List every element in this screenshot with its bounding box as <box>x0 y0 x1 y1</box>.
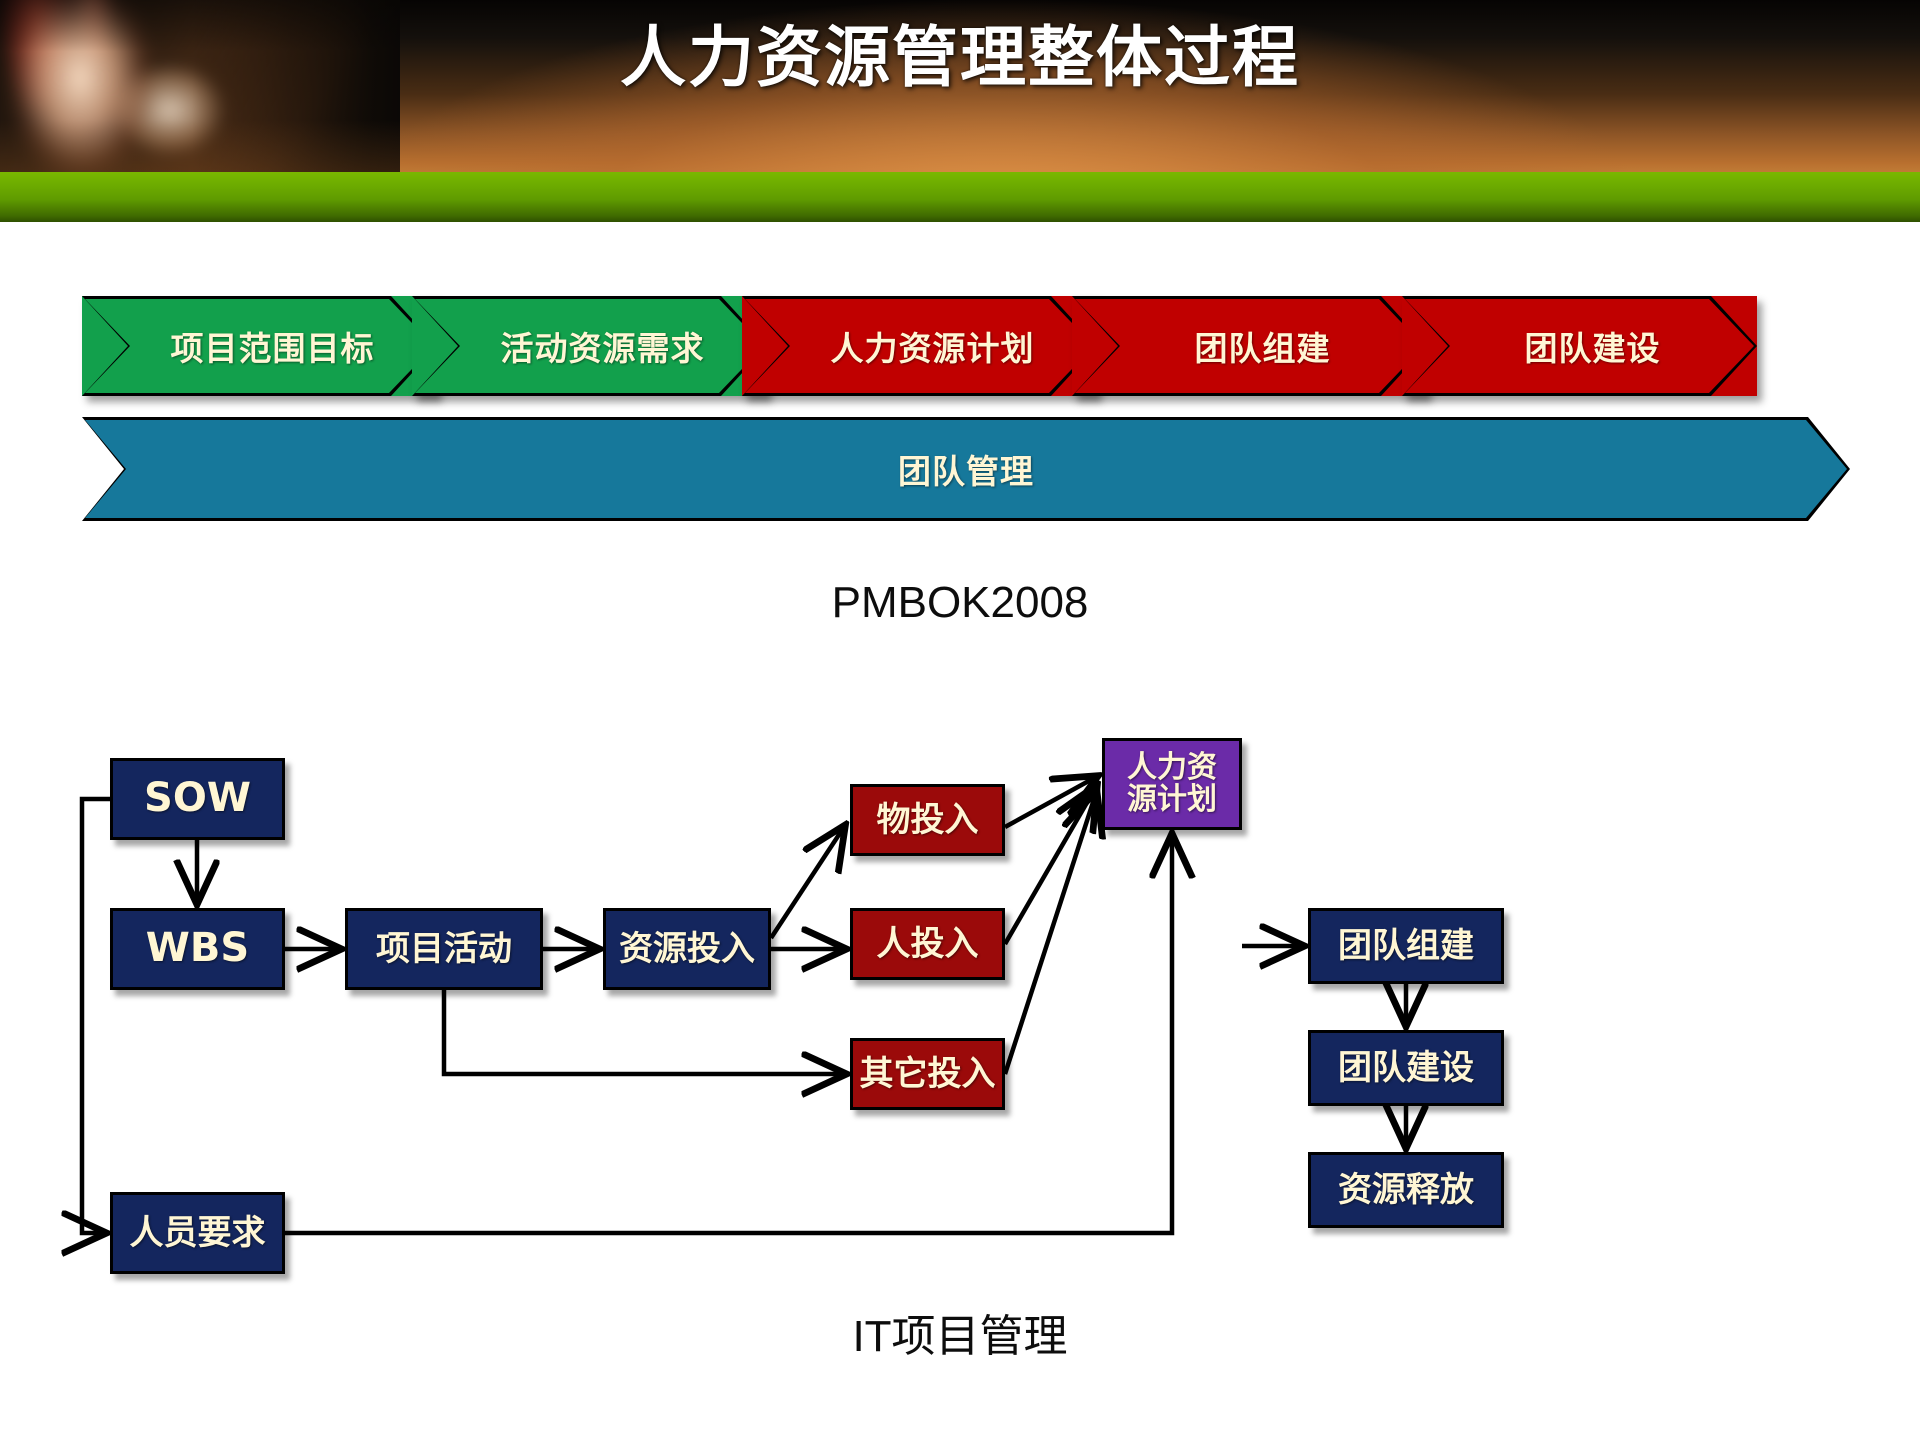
flow-node-teambuild[interactable]: 团队建设 <box>1308 1030 1504 1106</box>
flow-node-activity[interactable]: 项目活动 <box>345 908 543 990</box>
flow-node-teamform[interactable]: 团队组建 <box>1308 908 1504 984</box>
flow-node-wbs[interactable]: WBS <box>110 908 285 990</box>
flow-node-sow[interactable]: SOW <box>110 758 285 840</box>
flow-node-matin[interactable]: 物投入 <box>850 784 1005 856</box>
flow-node-hrplan[interactable]: 人力资 源计划 <box>1102 738 1242 830</box>
flow-node-humin[interactable]: 人投入 <box>850 908 1005 980</box>
flowchart-connectors <box>0 0 1920 1440</box>
it-project-management-flowchart: SOWWBS项目活动资源投入人员要求物投入人投入其它投入人力资 源计划团队组建团… <box>0 0 1920 1440</box>
flow-node-othin[interactable]: 其它投入 <box>850 1038 1005 1110</box>
flow-node-resrel[interactable]: 资源释放 <box>1308 1152 1504 1228</box>
flow-node-resin[interactable]: 资源投入 <box>603 908 771 990</box>
flow-node-staff[interactable]: 人员要求 <box>110 1192 285 1274</box>
